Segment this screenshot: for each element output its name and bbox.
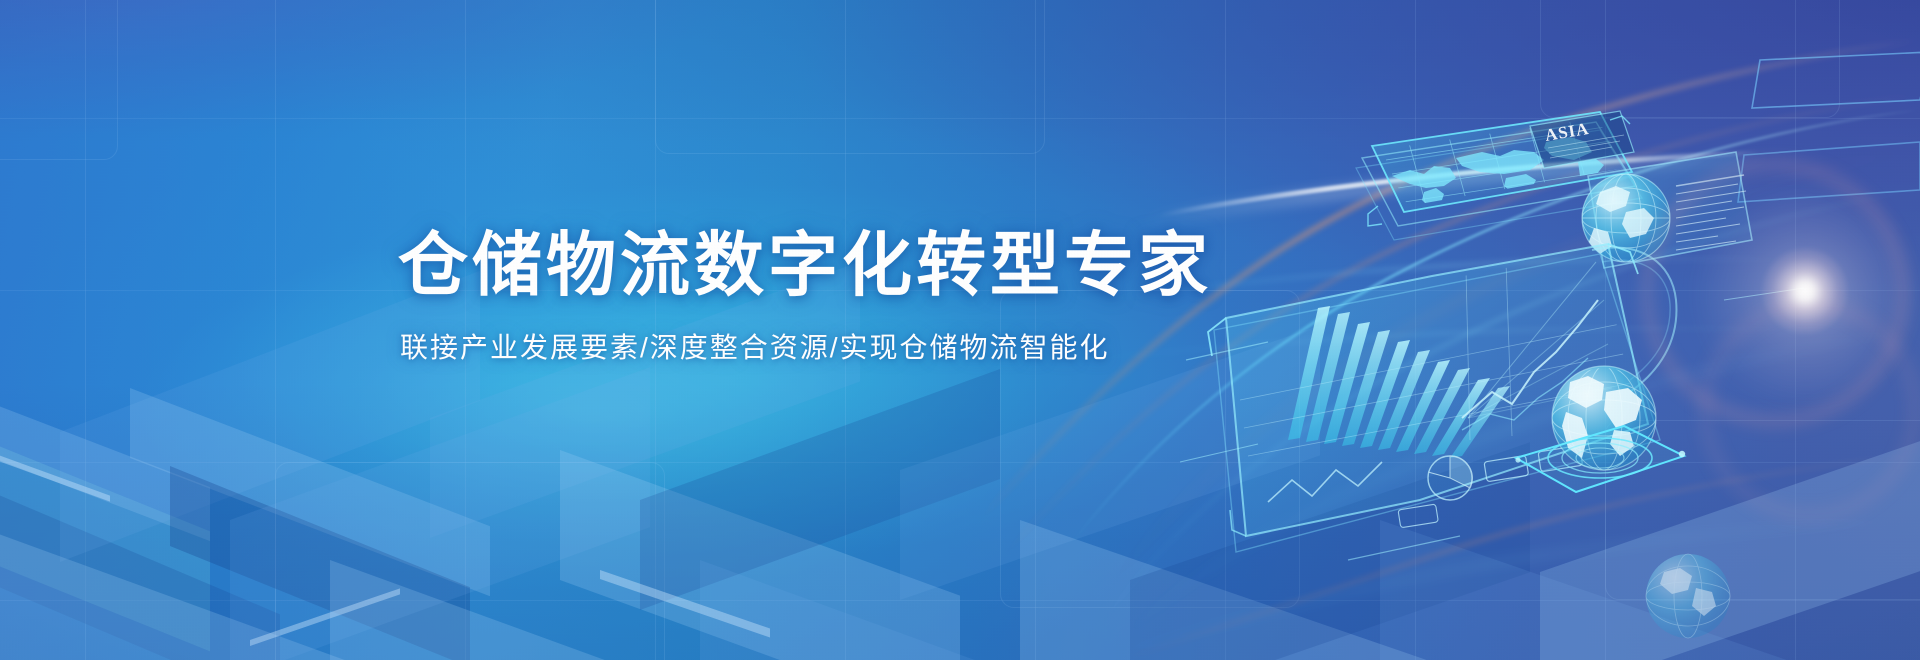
platform-node bbox=[1515, 457, 1520, 462]
globe-hologram-corner bbox=[1646, 554, 1730, 638]
page-title: 仓储物流数字化转型专家 bbox=[398, 228, 1212, 304]
lens-flare-core bbox=[1762, 248, 1848, 334]
hero-text-block: 仓储物流数字化转型专家 联接产业发展要素/深度整合资源/实现仓储物流智能化 bbox=[398, 228, 1212, 366]
platform-node bbox=[1679, 451, 1685, 457]
page-subtitle: 联接产业发展要素/深度整合资源/实现仓储物流智能化 bbox=[400, 326, 1212, 366]
hero-banner: ASIA bbox=[0, 0, 1920, 660]
